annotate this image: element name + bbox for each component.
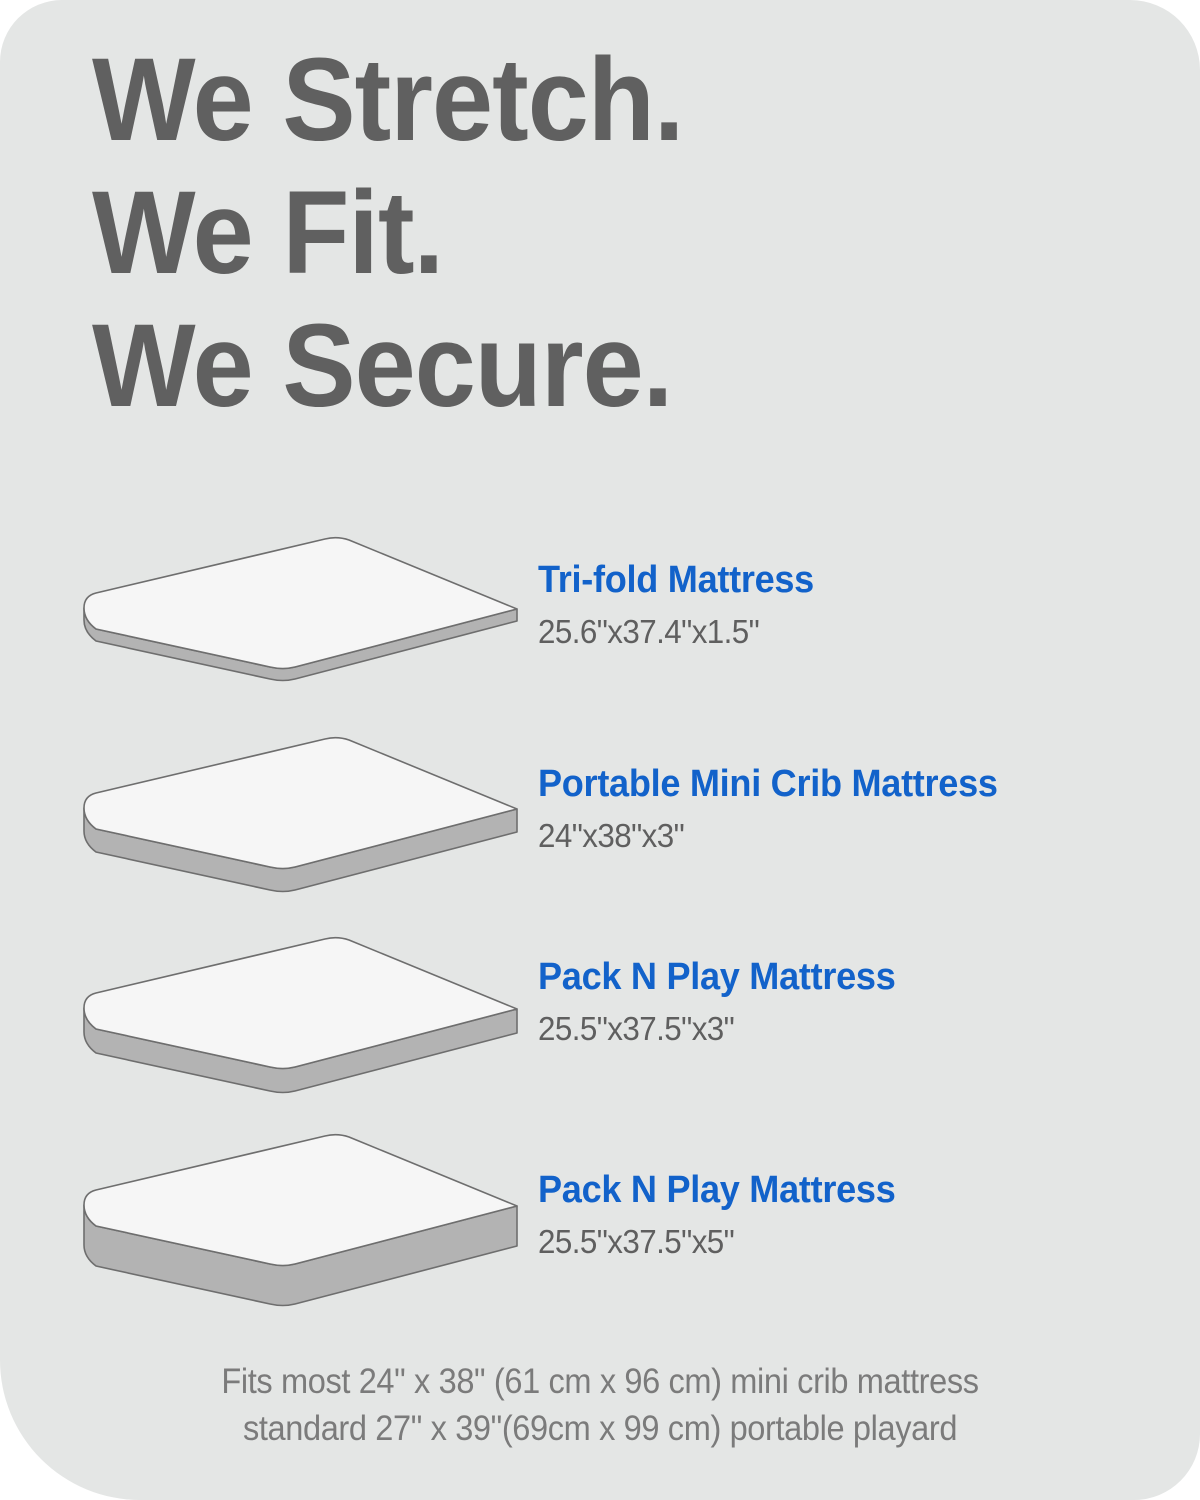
footer-line-2: standard 27" x 39"(69cm x 99 cm) portabl… xyxy=(42,1405,1158,1452)
product-row: Pack N Play Mattress 25.5"x37.5"x3" xyxy=(0,933,1200,1133)
product-text: Portable Mini Crib Mattress 24"x38"x3" xyxy=(538,762,1178,856)
mattress-isometric-icon xyxy=(62,533,532,733)
product-dimensions: 24"x38"x3" xyxy=(538,816,1146,856)
product-text: Pack N Play Mattress 25.5"x37.5"x5" xyxy=(538,1168,1178,1262)
product-title: Portable Mini Crib Mattress xyxy=(538,762,1146,806)
product-text: Pack N Play Mattress 25.5"x37.5"x3" xyxy=(538,955,1178,1049)
product-row: Portable Mini Crib Mattress 24"x38"x3" xyxy=(0,733,1200,933)
product-row: Tri-fold Mattress 25.6"x37.4"x1.5" xyxy=(0,533,1200,733)
product-dimensions: 25.5"x37.5"x5" xyxy=(538,1222,1146,1262)
product-title: Pack N Play Mattress xyxy=(538,955,1146,999)
headline-line-2: We Fit. xyxy=(92,167,1022,300)
product-row: Pack N Play Mattress 25.5"x37.5"x5" xyxy=(0,1133,1200,1333)
headline-block: We Stretch. We Fit. We Secure. xyxy=(92,34,1092,433)
product-dimensions: 25.6"x37.4"x1.5" xyxy=(538,612,1146,652)
footer-note: Fits most 24" x 38" (61 cm x 96 cm) mini… xyxy=(0,1358,1200,1452)
product-title: Tri-fold Mattress xyxy=(538,558,1146,602)
headline-line-1: We Stretch. xyxy=(92,34,1022,167)
product-title: Pack N Play Mattress xyxy=(538,1168,1146,1212)
mattress-isometric-icon xyxy=(62,733,532,933)
mattress-isometric-icon xyxy=(62,933,532,1133)
product-dimensions: 25.5"x37.5"x3" xyxy=(538,1009,1146,1049)
mattress-isometric-icon xyxy=(62,1133,532,1333)
product-text: Tri-fold Mattress 25.6"x37.4"x1.5" xyxy=(538,558,1178,652)
promo-card: We Stretch. We Fit. We Secure. Tri-fold … xyxy=(0,0,1200,1500)
footer-line-1: Fits most 24" x 38" (61 cm x 96 cm) mini… xyxy=(42,1358,1158,1405)
headline-line-3: We Secure. xyxy=(92,300,1022,433)
